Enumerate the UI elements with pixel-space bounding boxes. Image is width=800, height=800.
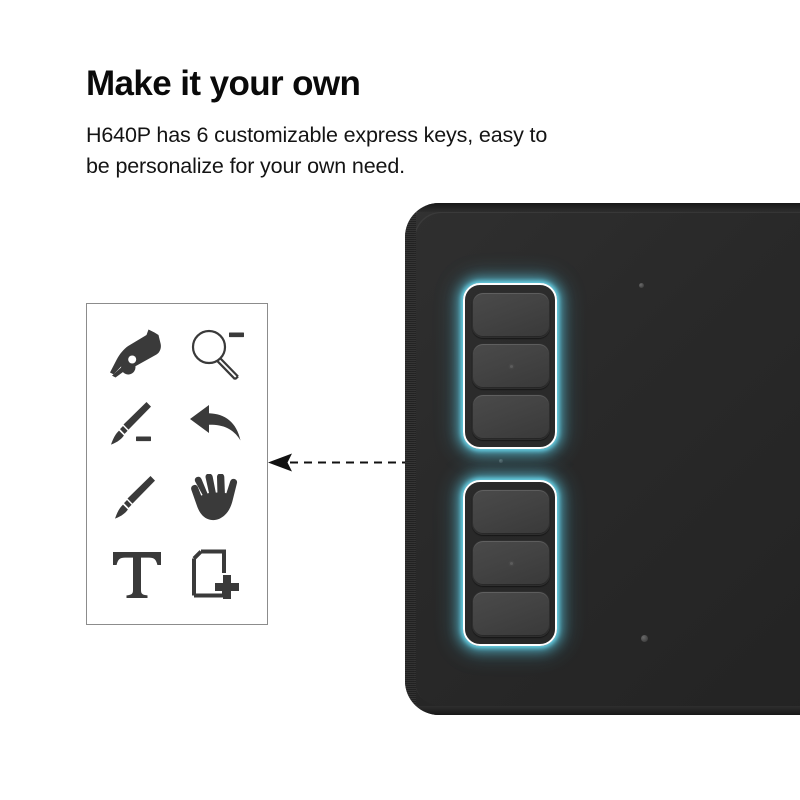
product-feature-slide: Make it your own H640P has 6 customizabl… — [0, 0, 800, 800]
express-key-3[interactable] — [472, 394, 550, 440]
tablet-left-edge — [405, 203, 416, 715]
express-key-2-center-dot — [510, 365, 513, 368]
express-key-4[interactable] — [472, 489, 550, 535]
page-subcopy: H640P has 6 customizable express keys, e… — [86, 120, 686, 181]
express-key-group-top[interactable] — [463, 283, 557, 449]
express-key-5-center-dot — [510, 562, 513, 565]
new-document-icon — [177, 539, 257, 613]
subcopy-line-1: H640P has 6 customizable express keys, e… — [86, 120, 686, 151]
brush-decrease-icon — [97, 392, 177, 466]
tablet-top-rim — [405, 203, 800, 212]
subcopy-line-2: be personalize for your own need. — [86, 151, 686, 182]
express-key-5[interactable] — [472, 540, 550, 586]
express-key-1[interactable] — [472, 292, 550, 338]
led-indicator-dot-middle — [499, 459, 503, 463]
express-key-6[interactable] — [472, 591, 550, 637]
text-tool-icon — [97, 539, 177, 613]
express-key-group-bottom[interactable] — [463, 480, 557, 646]
pen-nib-icon — [97, 318, 177, 392]
led-indicator-dot-bottom — [641, 635, 648, 642]
graphics-tablet-device — [405, 203, 800, 715]
tablet-bottom-rim — [405, 706, 800, 715]
zoom-out-icon — [177, 318, 257, 392]
led-indicator-dot-top — [639, 283, 644, 288]
hand-pan-icon — [177, 465, 257, 539]
icon-legend-panel — [86, 303, 268, 625]
page-title: Make it your own — [86, 66, 360, 103]
icon-grid — [87, 304, 267, 624]
brush-icon — [97, 465, 177, 539]
express-key-2[interactable] — [472, 343, 550, 389]
undo-arrow-icon — [177, 392, 257, 466]
